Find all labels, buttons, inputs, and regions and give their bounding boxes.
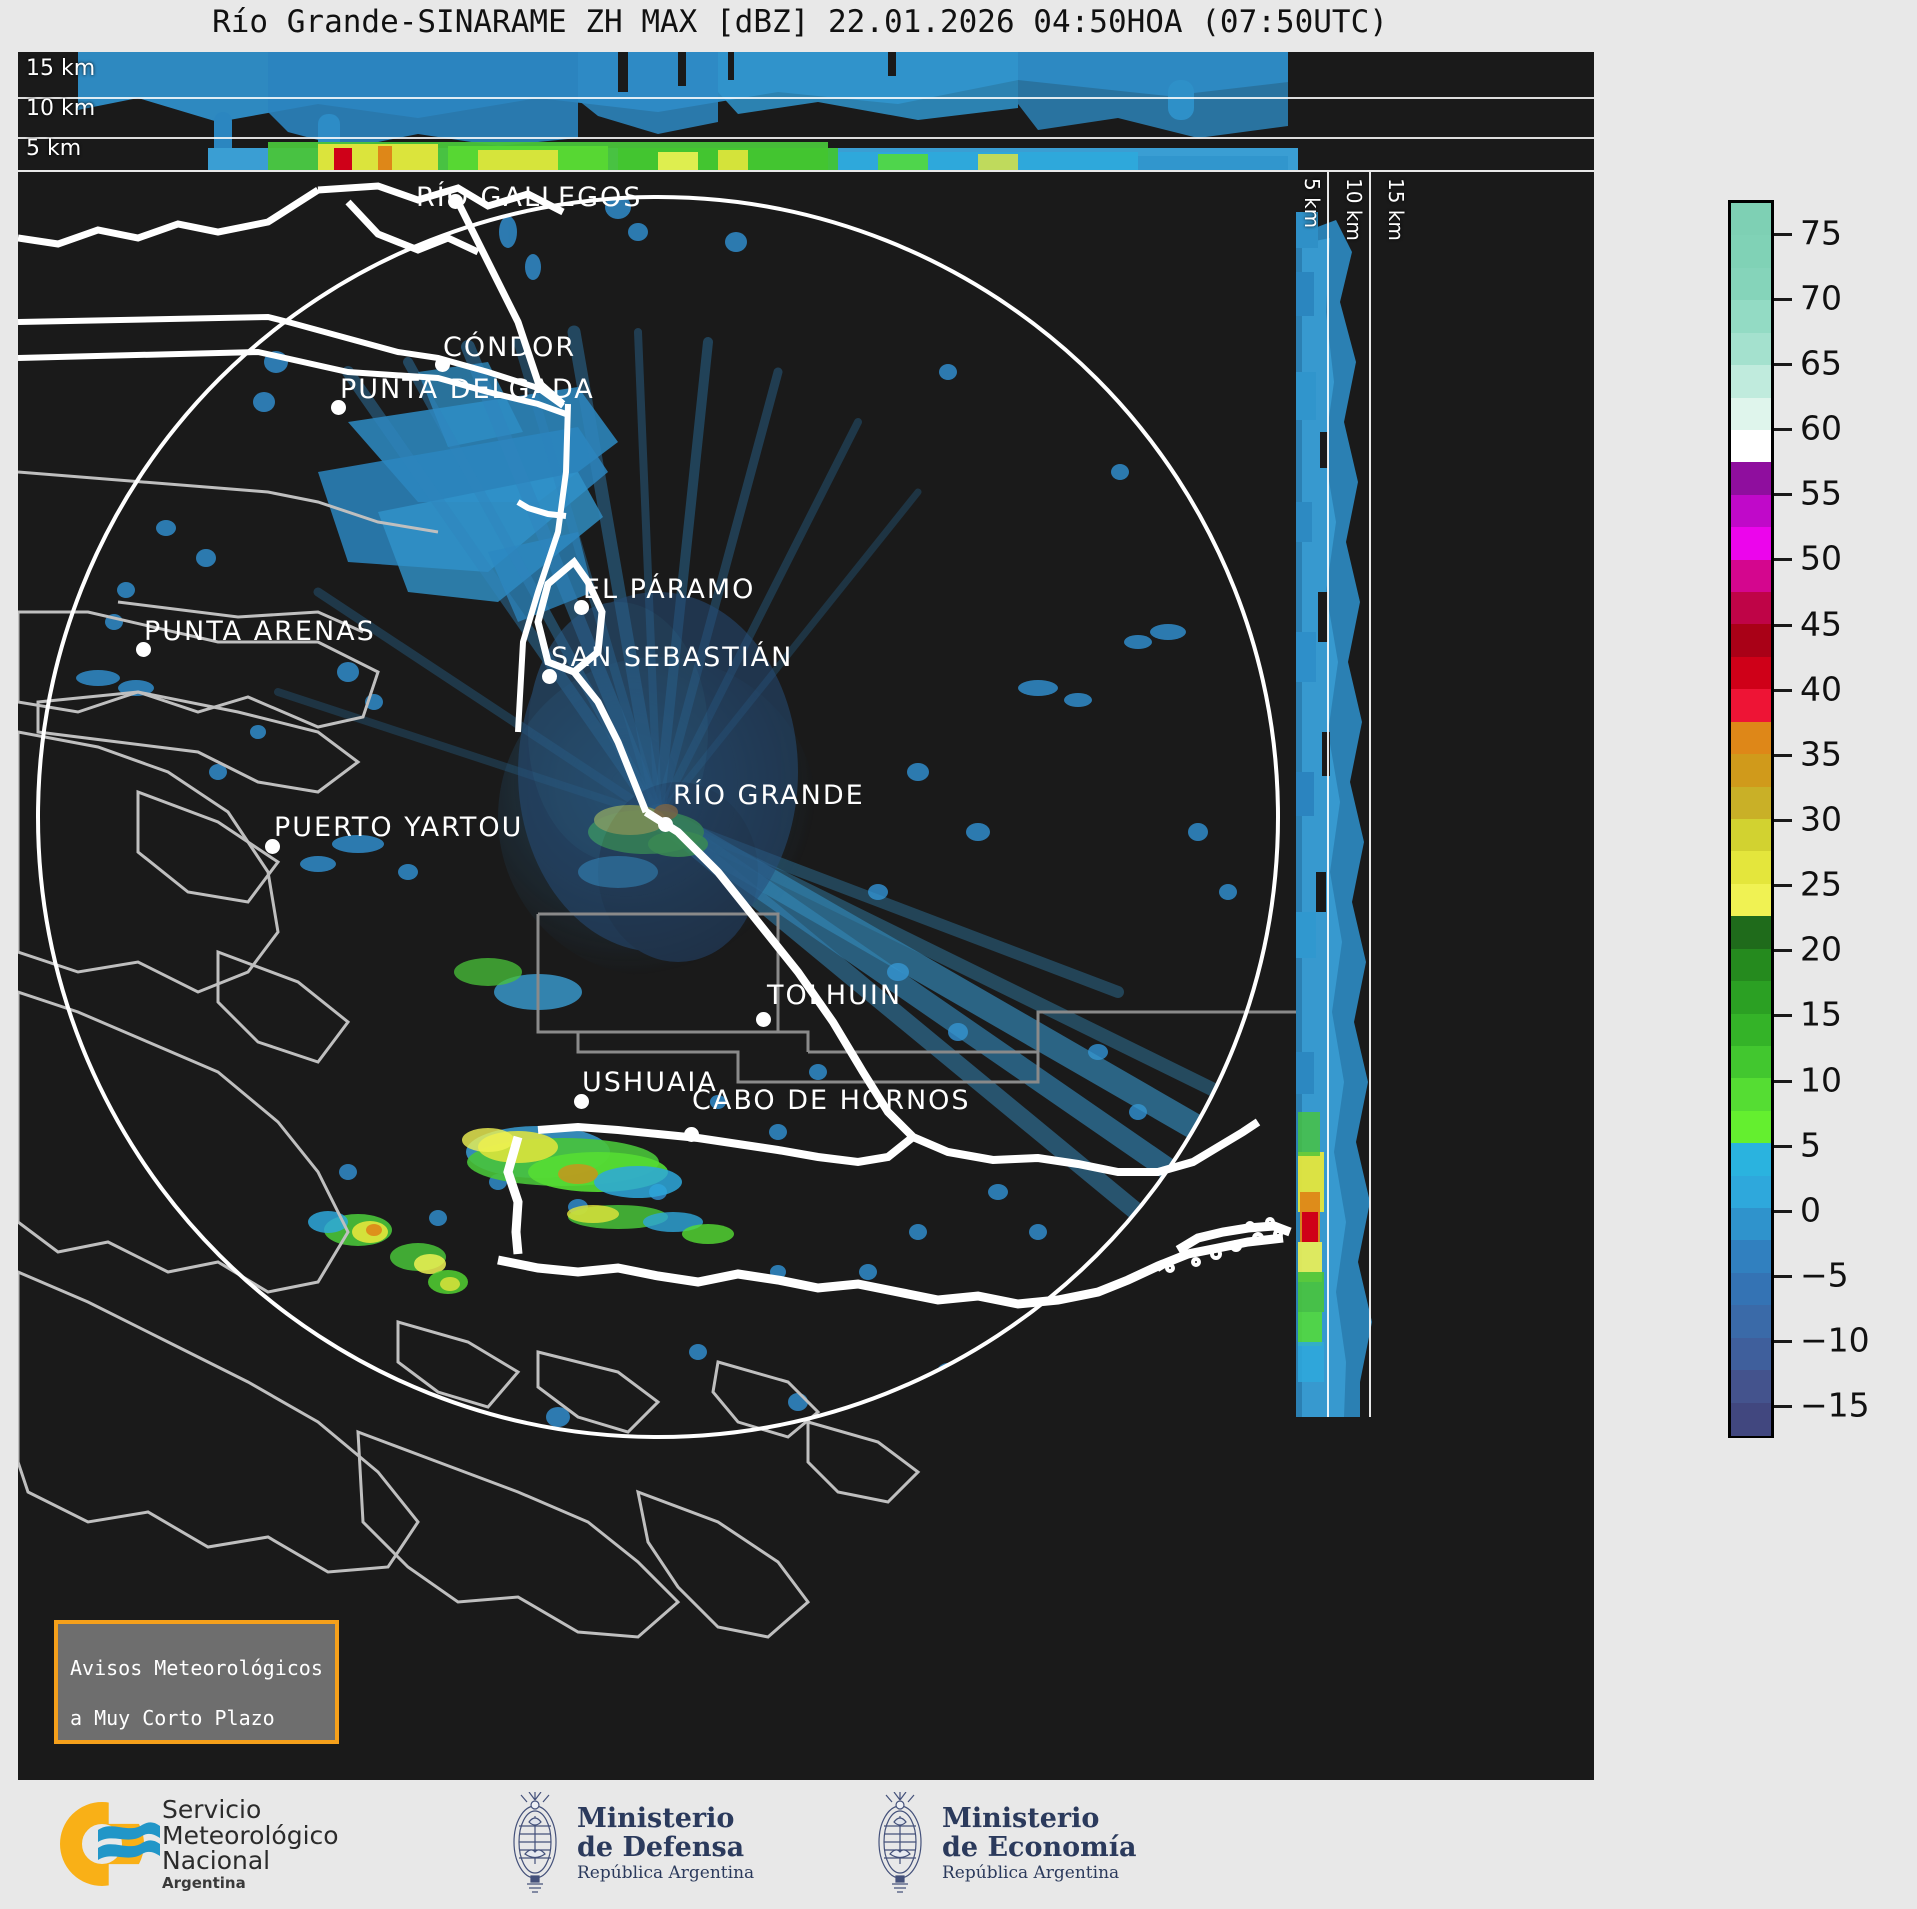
colorbar-segment (1731, 916, 1771, 950)
smn-line-2: Meteorológico (162, 1823, 339, 1849)
colorbar-segment (1731, 1370, 1771, 1404)
colorbar-segment (1731, 851, 1771, 885)
colorbar-tick-label: −5 (1800, 1256, 1849, 1295)
colorbar-segment (1731, 1111, 1771, 1145)
smn-line-3: Nacional (162, 1848, 339, 1874)
top-cross-section-panel: 15 km 10 km 5 km (18, 52, 1594, 170)
colorbar-tick (1774, 689, 1792, 692)
warning-line-2: a Muy Corto Plazo (70, 1706, 275, 1730)
colorbar-segment (1731, 657, 1771, 691)
colorbar-segment (1731, 235, 1771, 269)
colorbar-tick-label: 70 (1800, 278, 1842, 317)
colorbar-tick-label: 75 (1800, 213, 1842, 252)
colorbar (1728, 200, 1774, 1438)
right-xsec-alt-15km: 15 km (1384, 178, 1408, 241)
defensa-line-2: de Defensa (577, 1834, 754, 1862)
colorbar-tick (1774, 558, 1792, 561)
colorbar-tick (1774, 1275, 1792, 1278)
defensa-line-3: República Argentina (577, 1865, 754, 1883)
city-marker (756, 1012, 771, 1027)
city-marker (574, 600, 589, 615)
colorbar-tick (1774, 233, 1792, 236)
city-marker (658, 817, 673, 832)
colorbar-segment (1731, 884, 1771, 918)
colorbar-segment (1731, 1014, 1771, 1048)
colorbar-tick-label: 15 (1800, 995, 1842, 1034)
argentina-coat-of-arms-icon (870, 1792, 930, 1896)
colorbar-segment (1731, 365, 1771, 399)
defensa-line-1: Ministerio (577, 1805, 754, 1833)
colorbar-tick-label: 40 (1800, 669, 1842, 708)
colorbar-tick (1774, 949, 1792, 952)
colorbar-tick-label: 30 (1800, 800, 1842, 839)
colorbar-tick (1774, 624, 1792, 627)
colorbar-tick-label: 65 (1800, 343, 1842, 382)
nowcast-warning-badge[interactable]: Avisos Meteorológicos a Muy Corto Plazo (54, 1620, 339, 1744)
colorbar-segment (1731, 1078, 1771, 1112)
right-cross-section-panel: 5 km 10 km 15 km (1296, 172, 1416, 1417)
colorbar-gradient (1731, 203, 1771, 1435)
colorbar-segment (1731, 333, 1771, 367)
colorbar-tick (1774, 363, 1792, 366)
colorbar-segment (1731, 1208, 1771, 1242)
city-marker (542, 669, 557, 684)
city-marker (136, 642, 151, 657)
colorbar-segment (1731, 981, 1771, 1015)
colorbar-tick-label: 10 (1800, 1060, 1842, 1099)
colorbar-tick (1774, 1405, 1792, 1408)
colorbar-segment (1731, 495, 1771, 529)
city-marker (331, 400, 346, 415)
colorbar-tick (1774, 1014, 1792, 1017)
colorbar-segment (1731, 268, 1771, 302)
colorbar-segment (1731, 300, 1771, 334)
colorbar-tick-label: 5 (1800, 1125, 1821, 1164)
colorbar-tick-label: 60 (1800, 409, 1842, 448)
economia-line-1: Ministerio (942, 1805, 1136, 1833)
colorbar-tick-label: 50 (1800, 539, 1842, 578)
colorbar-segment (1731, 1143, 1771, 1177)
colorbar-tick (1774, 1145, 1792, 1148)
colorbar-segment (1731, 560, 1771, 594)
city-marker (435, 357, 450, 372)
smn-flag-icon (98, 1820, 160, 1868)
right-xsec-alt-5km: 5 km (1300, 178, 1324, 228)
colorbar-segment (1731, 1338, 1771, 1372)
colorbar-segment (1731, 462, 1771, 496)
smn-emblem (58, 1796, 154, 1892)
colorbar-tick (1774, 1080, 1792, 1083)
colorbar-segment (1731, 430, 1771, 464)
defensa-wordmark: Ministerio de Defensa República Argentin… (577, 1805, 754, 1883)
top-xsec-alt-15km: 15 km (26, 56, 95, 81)
radar-product-page: Río Grande-SINARAME ZH MAX [dBZ] 22.01.2… (0, 0, 1917, 1909)
colorbar-segment (1731, 722, 1771, 756)
city-marker (265, 839, 280, 854)
colorbar-tick (1774, 754, 1792, 757)
colorbar-tick-label: 0 (1800, 1190, 1821, 1229)
colorbar-tick-label: 25 (1800, 865, 1842, 904)
city-marker (684, 1127, 699, 1142)
colorbar-segment (1731, 203, 1771, 237)
colorbar-segment (1731, 1240, 1771, 1274)
top-cross-section-echoes (18, 52, 1594, 170)
colorbar-tick-label: −10 (1800, 1321, 1870, 1360)
colorbar-tick (1774, 1210, 1792, 1213)
city-marker (574, 1094, 589, 1109)
logo-ministerio-defensa: Ministerio de Defensa República Argentin… (505, 1792, 754, 1896)
colorbar-tick (1774, 493, 1792, 496)
colorbar-segment (1731, 787, 1771, 821)
footer-logos: Servicio Meteorológico Nacional Argentin… (0, 1790, 1917, 1909)
right-xsec-alt-10km: 10 km (1342, 178, 1366, 241)
smn-line-4: Argentina (162, 1876, 339, 1891)
top-xsec-alt-5km: 5 km (26, 136, 81, 161)
argentina-coat-of-arms-icon (505, 1792, 565, 1896)
colorbar-segment (1731, 592, 1771, 626)
right-cross-section-echoes (1296, 172, 1416, 1417)
smn-line-1: Servicio (162, 1797, 339, 1823)
colorbar-segment (1731, 819, 1771, 853)
colorbar-segment (1731, 754, 1771, 788)
smn-wordmark: Servicio Meteorológico Nacional Argentin… (162, 1797, 339, 1891)
colorbar-tick-layer: 757065605550454035302520151050−5−10−15 (1774, 200, 1894, 1438)
colorbar-segment (1731, 1273, 1771, 1307)
colorbar-tick (1774, 819, 1792, 822)
colorbar-tick (1774, 428, 1792, 431)
colorbar-segment (1731, 1305, 1771, 1339)
colorbar-segment (1731, 624, 1771, 658)
colorbar-tick-label: −15 (1800, 1386, 1870, 1425)
coastline-layer (18, 472, 918, 1637)
colorbar-segment (1731, 1046, 1771, 1080)
colorbar-segment (1731, 398, 1771, 432)
colorbar-segment (1731, 689, 1771, 723)
colorbar-tick (1774, 884, 1792, 887)
logo-ministerio-economia: Ministerio de Economía República Argenti… (870, 1792, 1136, 1896)
economia-line-3: República Argentina (942, 1865, 1136, 1883)
economia-wordmark: Ministerio de Economía República Argenti… (942, 1805, 1136, 1883)
warning-line-1: Avisos Meteorológicos (70, 1656, 323, 1680)
colorbar-segment (1731, 527, 1771, 561)
top-xsec-alt-10km: 10 km (26, 96, 95, 121)
colorbar-tick-label: 20 (1800, 930, 1842, 969)
economia-line-2: de Economía (942, 1834, 1136, 1862)
colorbar-tick (1774, 1340, 1792, 1343)
colorbar-tick-label: 35 (1800, 734, 1842, 773)
logo-smn: Servicio Meteorológico Nacional Argentin… (58, 1796, 339, 1892)
colorbar-segment (1731, 1176, 1771, 1210)
colorbar-tick-label: 55 (1800, 474, 1842, 513)
colorbar-tick-label: 45 (1800, 604, 1842, 643)
colorbar-segment (1731, 1403, 1771, 1437)
city-marker (448, 194, 463, 209)
colorbar-segment (1731, 949, 1771, 983)
colorbar-tick (1774, 298, 1792, 301)
page-title: Río Grande-SINARAME ZH MAX [dBZ] 22.01.2… (0, 4, 1600, 40)
